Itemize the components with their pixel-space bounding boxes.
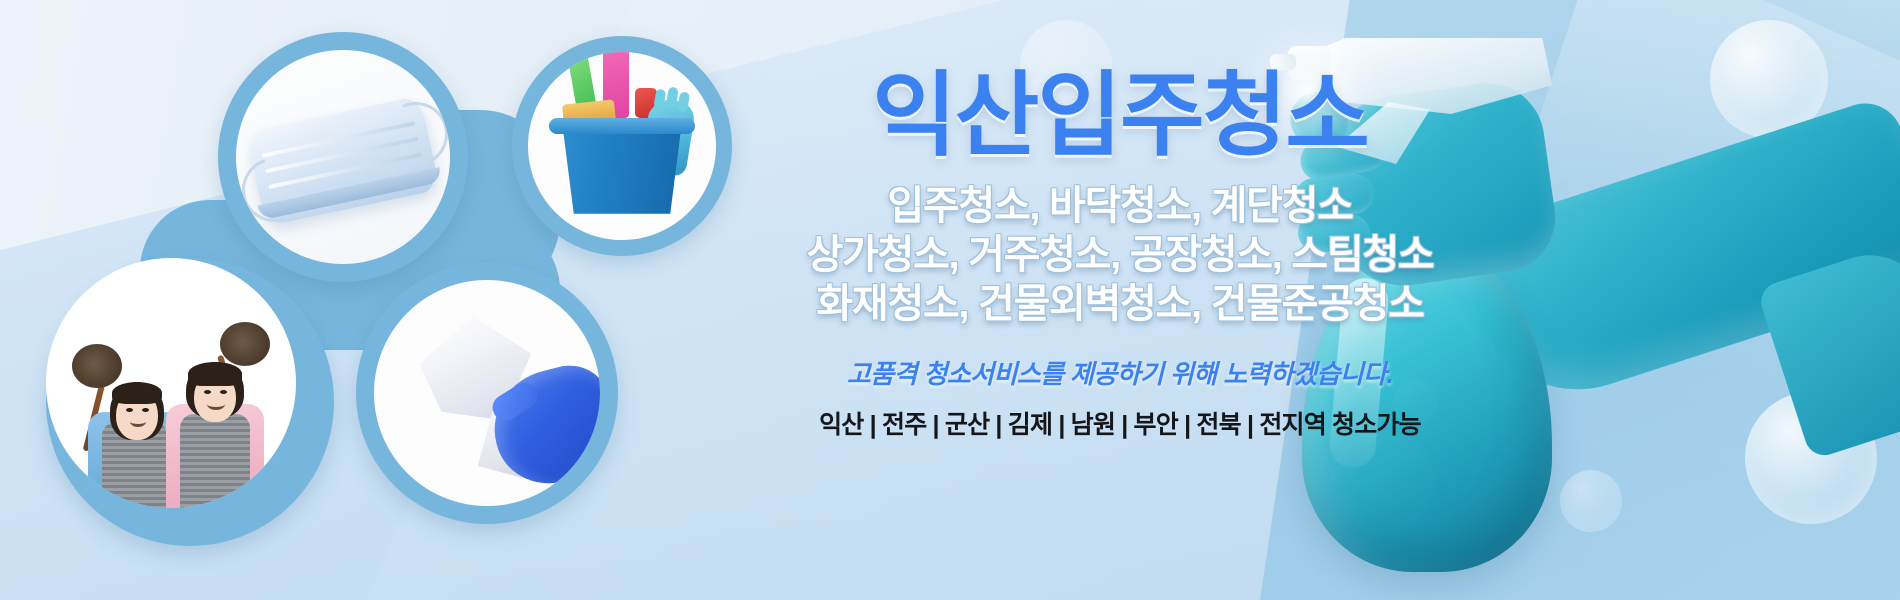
service-line-3: 화재청소, 건물외벽청소, 건물준공청소 bbox=[760, 280, 1480, 329]
bucket-graphic bbox=[547, 118, 697, 214]
smile bbox=[130, 416, 146, 427]
gloved-hand-cloth-photo bbox=[374, 280, 600, 506]
bucket-rim bbox=[549, 118, 695, 134]
service-list: 입주청소, 바닥청소, 계단청소 상가청소, 거주청소, 공장청소, 스팀청소 … bbox=[760, 182, 1480, 328]
banner-headline: 익산입주청소 bbox=[760, 70, 1480, 162]
banner-tagline: 고품격 청소서비스를 제공하기 위해 노력하겠습니다. bbox=[760, 354, 1480, 391]
service-line-2: 상가청소, 거주청소, 공장청소, 스팀청소 bbox=[760, 231, 1480, 280]
cleaning-couple-photo bbox=[46, 258, 296, 508]
banner-text-block: 익산입주청소 입주청소, 바닥청소, 계단청소 상가청소, 거주청소, 공장청소… bbox=[760, 70, 1480, 441]
photo-cluster bbox=[20, 0, 760, 600]
duster-head bbox=[220, 322, 270, 366]
smile bbox=[207, 398, 225, 410]
apron bbox=[180, 414, 250, 508]
cleaning-bucket-photo bbox=[528, 52, 716, 240]
service-line-1: 입주청소, 바닥청소, 계단청소 bbox=[760, 182, 1480, 231]
hair-fringe bbox=[112, 382, 162, 404]
hair-fringe bbox=[188, 362, 242, 386]
cleaning-couple-circle bbox=[46, 258, 334, 546]
cleaning-bucket-circle bbox=[512, 36, 732, 256]
face-mask-photo bbox=[236, 50, 450, 264]
bucket-body bbox=[555, 130, 689, 214]
gloved-hand-cloth-circle bbox=[356, 262, 618, 524]
duster-head bbox=[72, 344, 122, 388]
cleaning-service-banner: 익산입주청소 입주청소, 바닥청소, 계단청소 상가청소, 거주청소, 공장청소… bbox=[0, 0, 1900, 600]
face-mask-circle bbox=[218, 32, 468, 282]
service-regions: 익산 | 전주 | 군산 | 김제 | 남원 | 부안 | 전북 | 전지역 청… bbox=[760, 405, 1480, 441]
person-man bbox=[162, 326, 274, 508]
